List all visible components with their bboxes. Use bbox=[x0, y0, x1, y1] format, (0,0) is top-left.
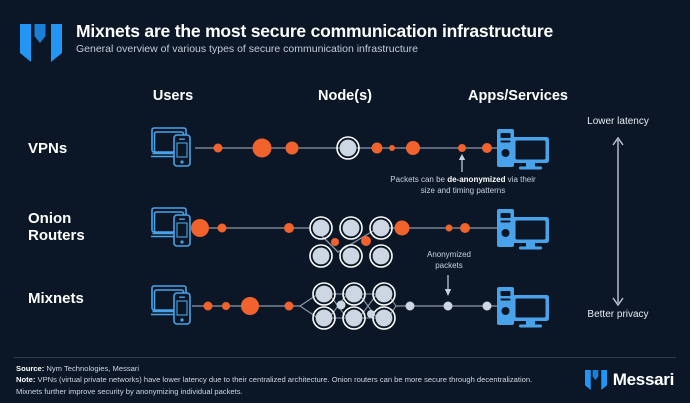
onion-node bbox=[310, 245, 332, 267]
packet bbox=[389, 145, 395, 151]
anonymized-annotation: Anonymized packets bbox=[403, 250, 495, 272]
footer-divider bbox=[14, 357, 676, 358]
footer-source-label: Source: bbox=[16, 364, 44, 373]
onion-service-server-monitor-icon bbox=[497, 209, 549, 250]
packet bbox=[361, 236, 371, 246]
anno-line-2: packets bbox=[403, 261, 495, 272]
mixnet-node bbox=[343, 307, 365, 329]
footer-note-label: Note: bbox=[16, 375, 35, 384]
packet bbox=[284, 223, 294, 233]
packet bbox=[285, 302, 294, 311]
anno-line-1: Anonymized bbox=[403, 250, 495, 261]
mixnet-user-laptop-phone-icon bbox=[151, 286, 190, 324]
packet bbox=[253, 139, 272, 158]
packet bbox=[367, 310, 375, 318]
infographic-page: Mixnets are the most secure communicatio… bbox=[0, 0, 690, 403]
onion-node bbox=[340, 245, 362, 267]
onion-node bbox=[370, 245, 392, 267]
packet bbox=[337, 301, 346, 310]
axis-label-lower-latency: Lower latency bbox=[558, 116, 678, 127]
packet bbox=[406, 302, 415, 311]
onion-node bbox=[310, 217, 332, 239]
footer-note-line: Note: VPNs (virtual private networks) ha… bbox=[16, 374, 536, 397]
mixnet-node bbox=[313, 307, 335, 329]
packet bbox=[372, 143, 383, 154]
mixnet-node bbox=[343, 283, 365, 305]
onion-node bbox=[340, 217, 362, 239]
vpn-node bbox=[337, 137, 359, 159]
packet bbox=[460, 223, 470, 233]
packet bbox=[286, 142, 299, 155]
packet bbox=[446, 225, 453, 232]
axis-label-better-privacy: Better privacy bbox=[558, 309, 678, 320]
footer-source-line: Source: Nym Technologies, Messari bbox=[16, 363, 536, 374]
packet bbox=[218, 224, 227, 233]
packet bbox=[458, 144, 466, 152]
anonymized-annotation-arrow bbox=[445, 275, 451, 296]
mixnet-service-server-monitor-icon bbox=[497, 287, 549, 328]
packet bbox=[204, 302, 213, 311]
packet bbox=[482, 143, 492, 153]
row-vpns bbox=[151, 128, 549, 170]
deanonymized-annotation-arrow bbox=[459, 154, 465, 172]
anno-text-before: Packets can be bbox=[390, 175, 447, 184]
packet bbox=[483, 302, 492, 311]
row-mixnets bbox=[151, 283, 549, 329]
messari-m-logo-icon bbox=[585, 370, 607, 390]
onion-user-laptop-phone-icon bbox=[151, 208, 190, 246]
packet bbox=[222, 302, 230, 310]
anno-text-bold: de-anonymized bbox=[447, 175, 505, 184]
footer-note-value: VPNs (virtual private networks) have low… bbox=[16, 375, 532, 395]
latency-privacy-axis-icon bbox=[613, 138, 623, 305]
packet bbox=[444, 302, 453, 311]
onion-node bbox=[370, 217, 392, 239]
packet bbox=[331, 238, 339, 246]
vpn-service-server-monitor-icon bbox=[497, 129, 549, 170]
footer-logo: Messari bbox=[585, 370, 674, 390]
mixnet-node bbox=[313, 283, 335, 305]
mixnet-node bbox=[373, 307, 395, 329]
packet bbox=[406, 141, 420, 155]
deanonymized-annotation: Packets can be de-anonymized via their s… bbox=[388, 175, 538, 197]
packet bbox=[241, 297, 259, 315]
packet bbox=[191, 219, 209, 237]
network-diagram bbox=[0, 0, 690, 403]
vpn-user-laptop-phone-icon bbox=[151, 128, 190, 166]
footer-wordmark: Messari bbox=[613, 370, 674, 390]
packet bbox=[214, 144, 223, 153]
mixnet-node bbox=[373, 283, 395, 305]
packet bbox=[395, 221, 410, 236]
footer-source-value: Nym Technologies, Messari bbox=[44, 364, 139, 373]
footer-text: Source: Nym Technologies, Messari Note: … bbox=[16, 363, 536, 397]
